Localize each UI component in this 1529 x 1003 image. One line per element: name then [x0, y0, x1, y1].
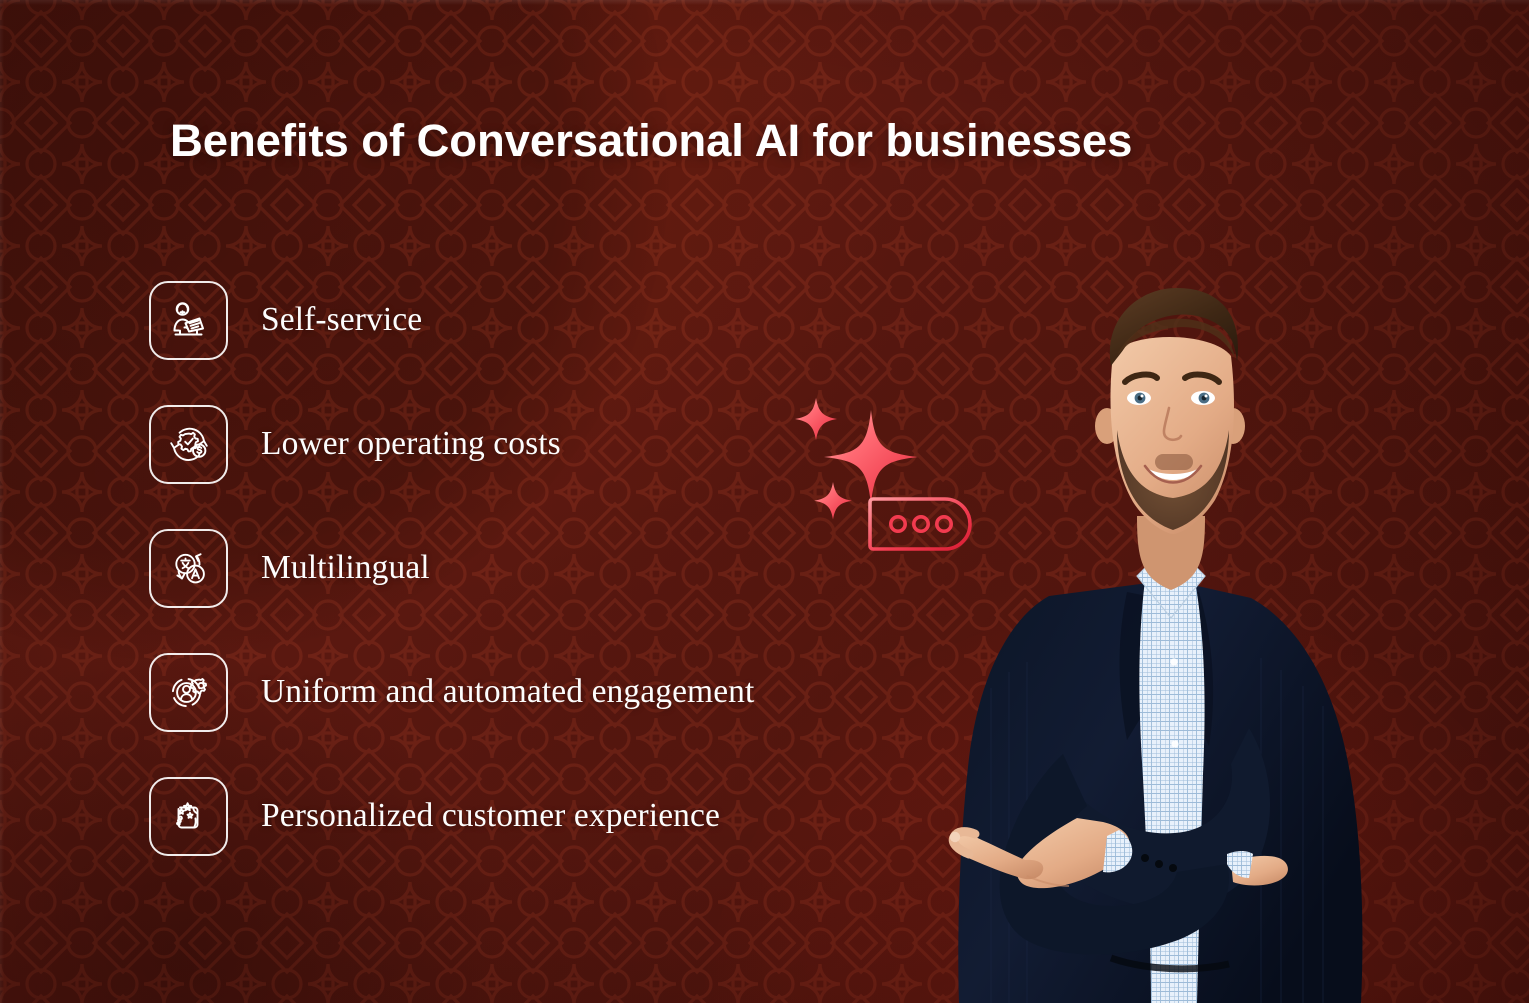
benefit-label: Multilingual [261, 549, 430, 587]
page-title: Benefits of Conversational AI for busine… [170, 113, 1410, 169]
four-point-sparkle-icon [814, 482, 851, 519]
benefit-label: Lower operating costs [261, 425, 561, 463]
benefit-item-self-service: Self-service [149, 258, 969, 382]
infographic-canvas: Benefits of Conversational AI for busine… [0, 0, 1529, 1003]
benefits-list: Self-service L [149, 258, 969, 878]
benefit-label: Personalized customer experience [261, 797, 720, 835]
chat-dot [891, 517, 905, 531]
self-service-icon [149, 281, 228, 360]
lower-cost-gear-dollar-icon [149, 405, 228, 484]
benefit-item-personalized-customer-experience: Personalized customer experience [149, 754, 969, 878]
benefit-item-uniform-automated-engagement: Uniform and automated engagement [149, 630, 969, 754]
head [1095, 288, 1245, 534]
personalized-sparkle-card-icon [149, 777, 228, 856]
benefit-label: Uniform and automated engagement [261, 673, 754, 711]
benefit-label: Self-service [261, 301, 422, 339]
businessman-photo [931, 258, 1401, 1003]
four-point-sparkle-icon [795, 398, 837, 440]
user-automation-gear-icon [149, 653, 228, 732]
four-point-sparkle-icon [824, 410, 918, 504]
translate-language-icon [149, 529, 228, 608]
chat-dot [914, 517, 928, 531]
